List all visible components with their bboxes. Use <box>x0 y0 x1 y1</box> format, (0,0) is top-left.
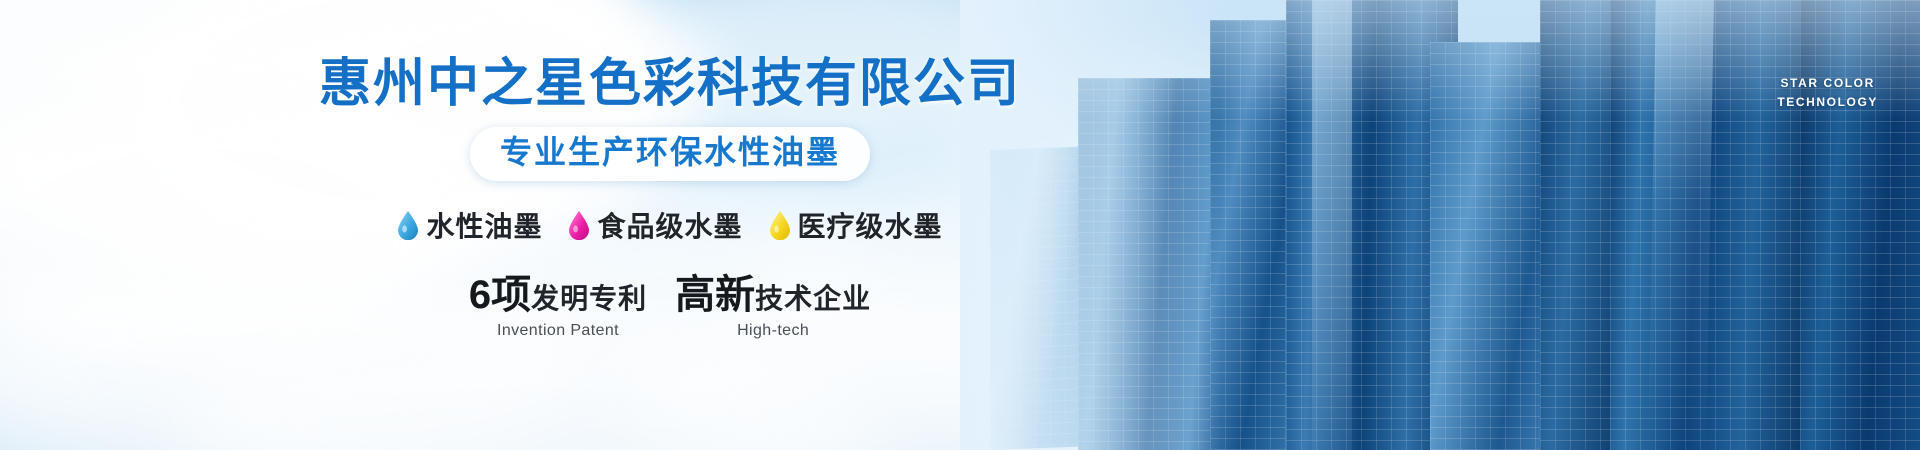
badge-invention-patent: 6项 发明专利 Invention Patent <box>469 275 647 340</box>
badge-rest-text: 技术企业 <box>755 285 871 313</box>
water-drop-icon <box>568 210 590 240</box>
banner-content: 惠州中之星色彩科技有限公司 专业生产环保水性油墨 <box>0 0 1340 450</box>
feature-list: 水性油墨 <box>397 205 942 245</box>
feature-item-food-grade-ink: 食品级水墨 <box>568 205 742 245</box>
company-title: 惠州中之星色彩科技有限公司 <box>319 58 1021 110</box>
water-drop-icon <box>397 210 419 240</box>
subtitle-text: 专业生产环保水性油墨 <box>500 134 840 172</box>
corner-logo: STAR COLOR TECHNOLOGY <box>1777 74 1878 111</box>
badge-list: 6项 发明专利 Invention Patent 高新 技术企业 High-te… <box>469 275 871 340</box>
corner-logo-line2: TECHNOLOGY <box>1777 93 1878 112</box>
badge-chinese-text: 6项 发明专利 <box>469 275 647 315</box>
corner-logo-line1: STAR COLOR <box>1777 74 1878 93</box>
feature-label: 水性油墨 <box>426 205 542 245</box>
feature-label: 医疗级水墨 <box>798 205 943 245</box>
badge-english-text: Invention Patent <box>497 322 619 340</box>
subtitle-pill: 专业生产环保水性油墨 <box>470 127 870 181</box>
company-banner: STAR COLOR TECHNOLOGY Star Color 惠州中之星色彩… <box>0 0 1920 450</box>
feature-item-medical-grade-ink: 医疗级水墨 <box>769 205 943 245</box>
badge-english-text: High-tech <box>737 322 809 340</box>
badge-high-tech: 高新 技术企业 High-tech <box>675 275 871 340</box>
water-drop-icon <box>769 210 791 240</box>
feature-label: 食品级水墨 <box>597 205 742 245</box>
badge-chinese-text: 高新 技术企业 <box>675 275 871 315</box>
feature-item-water-based-ink: 水性油墨 <box>397 205 542 245</box>
badge-strong-text: 6项 <box>469 275 531 315</box>
badge-strong-text: 高新 <box>675 275 755 315</box>
badge-rest-text: 发明专利 <box>531 285 647 313</box>
